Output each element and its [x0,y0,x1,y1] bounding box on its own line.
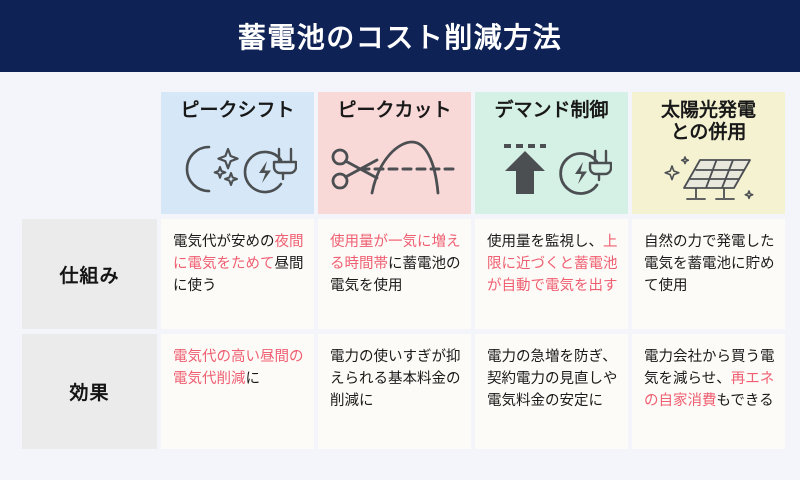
solar-panel-icon [632,145,785,214]
plain-text: に [246,371,261,387]
table-cell-effect-peak-shift: 電気代の高い昼間の電気代削減に [161,334,314,449]
scissors-peak-curve-icon [318,122,471,214]
column-header-solar-combined: 太陽光発電 との併用 [632,92,785,214]
up-arrow-limit-plug-icon [475,122,628,214]
cell-text: 使用量を監視し、上限に近づくと蓄電池が自動で電気を出す [487,231,618,297]
cell-text: 電力の急増を防ぎ、契約電力の見直しや電気料金の安定に [487,346,618,412]
row-label-mechanism: 仕組み [22,219,157,329]
table-cell-effect-peak-cut: 電力の使いすぎが抑えられる基本料金の削減に [318,334,471,449]
highlighted-text: 電気代の高い昼間の電気代削減 [173,349,304,387]
column-header-label: 太陽光発電 との併用 [661,100,756,145]
column-header-peak-cut: ピークカット [318,92,471,214]
cell-text: 使用量が一気に増える時間帯に蓄電池の電気を使用 [330,231,461,297]
cell-text: 電力会社から買う電気を減らせ、再エネの自家消費もできる [644,346,775,412]
row-label-text: 効果 [69,378,109,405]
table-cell-mechanism-peak-cut: 使用量が一気に増える時間帯に蓄電池の電気を使用 [318,219,471,329]
plain-text: 使用量を監視し、 [487,234,603,250]
plain-text: 電気代が安めの [173,234,275,250]
cell-text: 電力の使いすぎが抑えられる基本料金の削減に [330,346,461,412]
column-header-demand-control: デマンド制御 [475,92,628,214]
comparison-table: ピークシフト ピークカット [22,92,778,449]
plain-text: 自然の力で発電した電気を蓄電池に貯めて使用 [644,234,775,294]
table-corner-cell [22,92,157,214]
table-cell-mechanism-peak-shift: 電気代が安めの夜間に電気をためて昼間に使う [161,219,314,329]
plain-text: もできる [717,393,774,409]
plain-text: 電力の急増を防ぎ、契約電力の見直しや電気料金の安定に [487,349,617,409]
row-label-text: 仕組み [59,261,119,288]
title-bar: 蓄電池のコスト削減方法 [0,0,800,72]
table-cell-effect-solar: 電力会社から買う電気を減らせ、再エネの自家消費もできる [632,334,785,449]
column-header-label: デマンド制御 [494,100,608,122]
page-title: 蓄電池のコスト削減方法 [238,16,563,56]
table-cell-mechanism-solar: 自然の力で発電した電気を蓄電池に貯めて使用 [632,219,785,329]
table-cell-mechanism-demand-control: 使用量を監視し、上限に近づくと蓄電池が自動で電気を出す [475,219,628,329]
cell-text: 電気代の高い昼間の電気代削減に [173,346,304,390]
column-header-label: ピークカット [337,100,451,122]
column-header-label: ピークシフト [180,100,294,122]
moon-sparkle-plug-icon [161,122,314,214]
plain-text: 電力の使いすぎが抑えられる基本料金の削減に [330,349,461,409]
infographic-root: 蓄電池のコスト削減方法 ピークシフト [0,0,800,480]
table-cell-effect-demand-control: 電力の急増を防ぎ、契約電力の見直しや電気料金の安定に [475,334,628,449]
cell-text: 電気代が安めの夜間に電気をためて昼間に使う [173,231,304,297]
cell-text: 自然の力で発電した電気を蓄電池に貯めて使用 [644,231,775,297]
column-header-peak-shift: ピークシフト [161,92,314,214]
row-label-effect: 効果 [22,334,157,449]
